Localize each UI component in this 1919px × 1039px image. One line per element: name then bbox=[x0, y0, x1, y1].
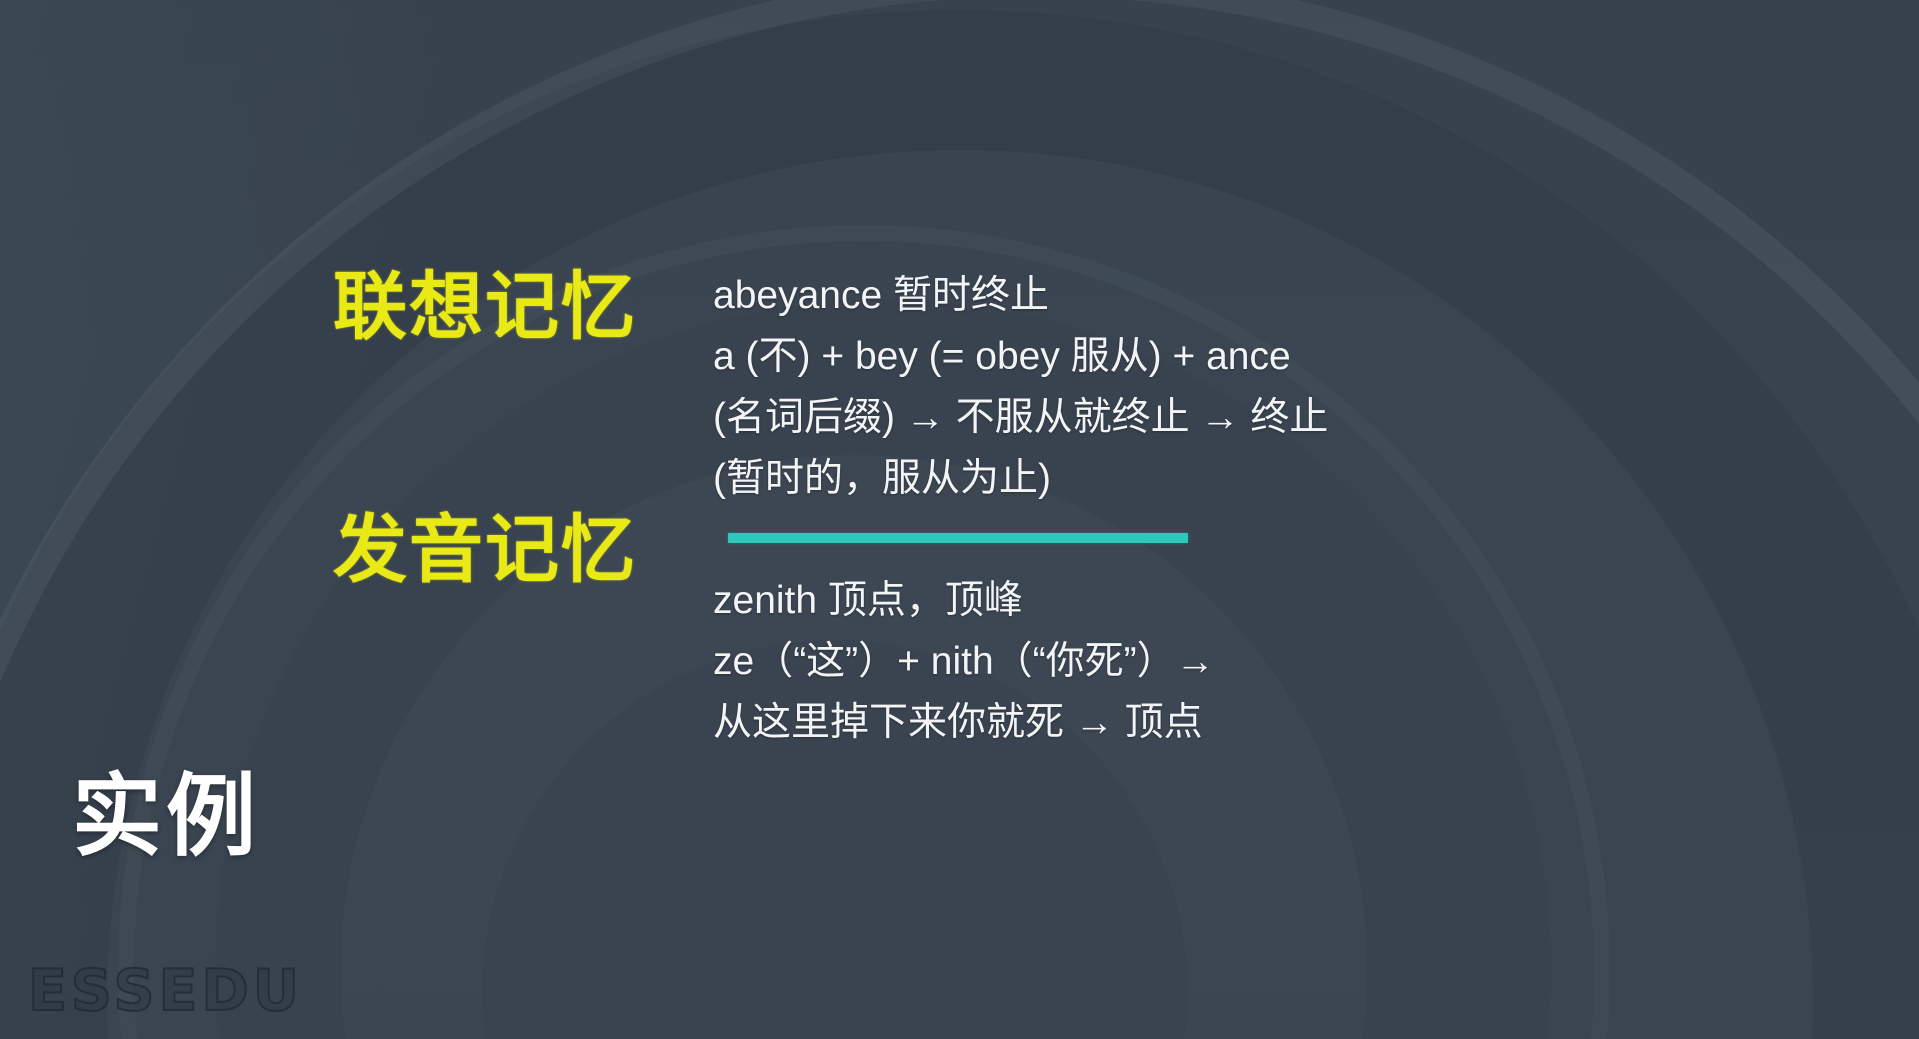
page-title: 实例 bbox=[72, 772, 260, 862]
body-line: 从这里掉下来你就死 → 顶点 bbox=[713, 692, 1215, 753]
brand-watermark-logo: ESSEDU bbox=[28, 963, 303, 1020]
body-line: (暂时的，服从为止) bbox=[713, 448, 1328, 509]
body-line: abeyance 暂时终止 bbox=[713, 265, 1328, 326]
section-heading-phonetic-memory: 发音记忆 bbox=[333, 513, 637, 587]
body-line: (名词后缀) → 不服从就终止 → 终止 bbox=[713, 387, 1328, 448]
slide-canvas: 联想记忆 abeyance 暂时终止 a (不) + bey (= obey 服… bbox=[0, 0, 1919, 1039]
body-line: ze（“这”）+ nith（“你死”）→ bbox=[713, 631, 1215, 692]
section-body-associative-memory: abeyance 暂时终止 a (不) + bey (= obey 服从) + … bbox=[713, 265, 1328, 509]
section-heading-associative-memory: 联想记忆 bbox=[333, 270, 637, 344]
slide-content: 联想记忆 abeyance 暂时终止 a (不) + bey (= obey 服… bbox=[0, 0, 1919, 1039]
section-body-phonetic-memory: zenith 顶点，顶峰 ze（“这”）+ nith（“你死”）→ 从这里掉下来… bbox=[713, 570, 1215, 753]
section-divider-line bbox=[728, 533, 1188, 543]
body-line: a (不) + bey (= obey 服从) + ance bbox=[713, 326, 1328, 387]
body-line: zenith 顶点，顶峰 bbox=[713, 570, 1215, 631]
